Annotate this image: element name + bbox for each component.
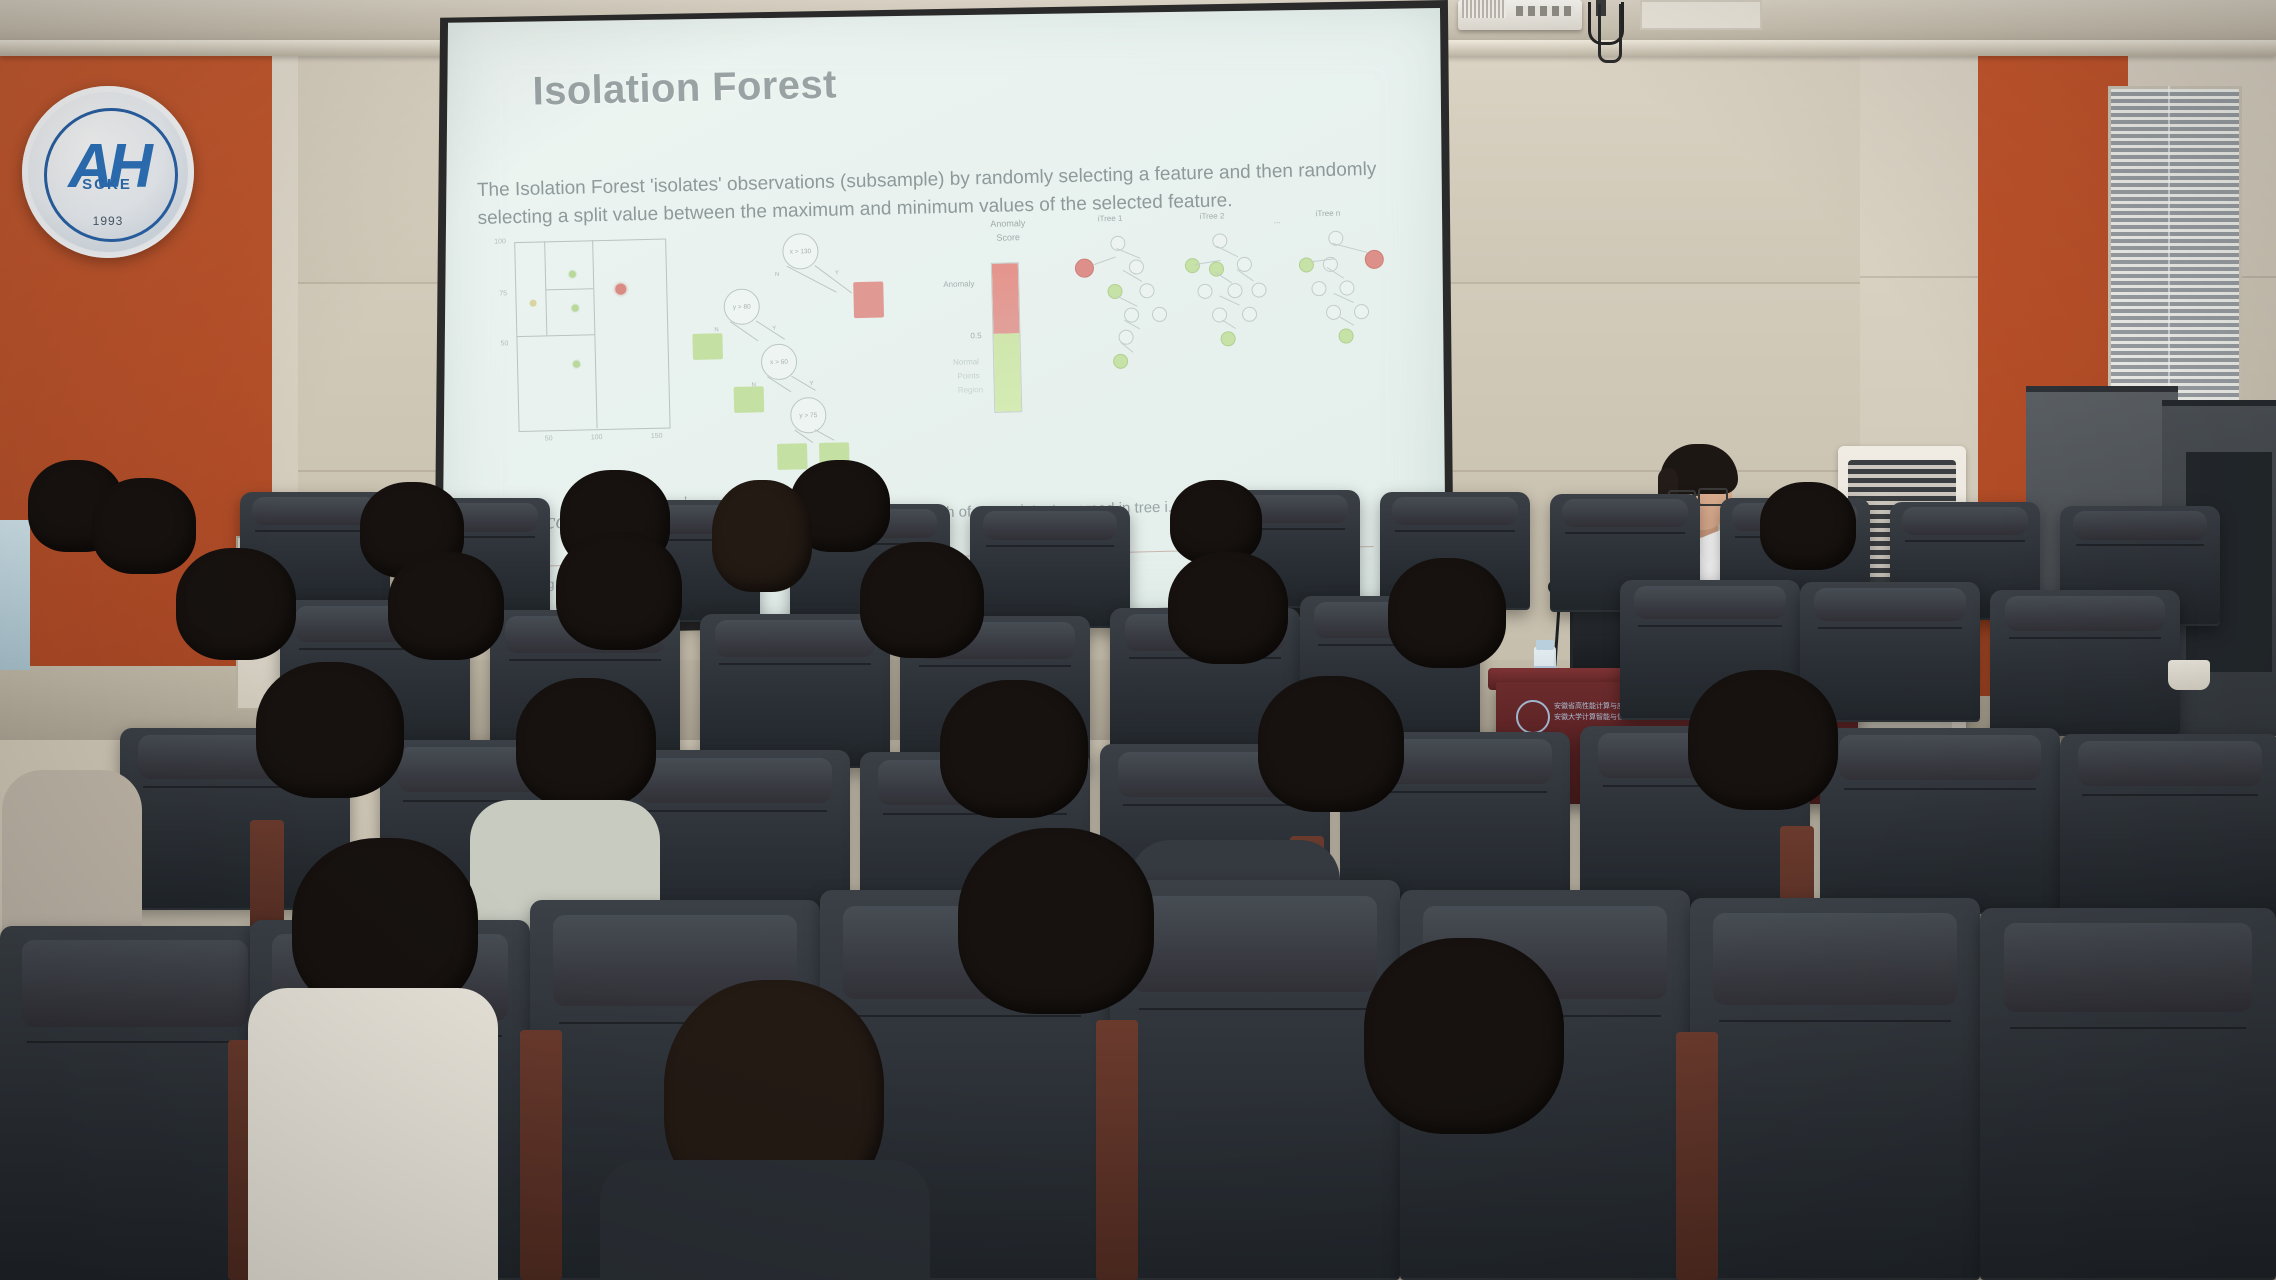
wall-seam-right-2 <box>1860 276 1978 278</box>
audience-head-r2-a <box>256 662 404 798</box>
itreen-node-d <box>1326 305 1341 320</box>
tree-leaf-normal-3 <box>777 443 808 470</box>
tree-edge-4 <box>756 321 785 340</box>
emblem-year: 1993 <box>66 214 150 228</box>
anomaly-region-low <box>993 333 1021 412</box>
itree1-node-d <box>1152 307 1167 322</box>
anomaly-score-legend: Anomaly Score Anomaly 0.5 Normal Points … <box>942 215 1078 468</box>
seat-armrest-r1-4 <box>1676 1032 1718 1280</box>
tree-node-3: x > 60 <box>761 343 798 380</box>
audience-head-r3-c <box>556 532 682 650</box>
itree1-node-a <box>1129 259 1144 274</box>
seat-row3-3[interactable] <box>700 614 890 768</box>
tree-leaf-normal-1 <box>692 333 723 360</box>
itree2-node-green-3 <box>1220 331 1235 346</box>
audience-head-r3-f <box>1388 558 1506 668</box>
emblem-acronym: SCKE <box>64 176 150 193</box>
itree-label-1: iTree 1 <box>1098 214 1123 224</box>
anomaly-region-high <box>992 263 1020 333</box>
partition-scatter-plot: 100 75 50 50 100 150 <box>482 230 677 464</box>
tree-node-4: y > 75 <box>790 397 827 434</box>
audience-head-r4-b <box>92 478 196 574</box>
audience-head-r3-d <box>860 542 984 658</box>
itreen-node-green-2 <box>1338 328 1353 343</box>
itree-label-2: iTree 2 <box>1200 211 1225 221</box>
seat-row1-8[interactable] <box>1980 908 2276 1280</box>
audience-seating <box>0 640 2276 1280</box>
normal-label-2: Points <box>957 371 979 381</box>
audience-head-r3-a <box>176 548 296 660</box>
audience-shoulders-tan <box>2 770 142 950</box>
seat-armrest-r1-2 <box>520 1030 562 1280</box>
itree2-node-c <box>1227 283 1242 298</box>
itreen-node-c <box>1339 280 1354 295</box>
itree1-node-b <box>1139 283 1154 298</box>
itree-label-n: iTree n <box>1316 209 1341 219</box>
itreen-edge-5 <box>1340 317 1354 326</box>
scatter-ytick-0: 100 <box>494 238 506 245</box>
audience-head-r1-c <box>1364 938 1564 1134</box>
tree-leaf-normal-2 <box>734 386 765 413</box>
itree2-edge-6 <box>1222 320 1236 329</box>
itree1-edge-4 <box>1117 296 1137 307</box>
tree-edge-8 <box>814 429 834 441</box>
scatter-ytick-2: 50 <box>500 340 508 347</box>
seat-row2-8[interactable] <box>1820 728 2060 914</box>
itree1-edge-2 <box>1093 257 1116 266</box>
itreen-node-green-1 <box>1299 257 1314 272</box>
seat-row4-5[interactable] <box>970 506 1130 628</box>
audience-head-r2-b <box>516 678 656 808</box>
itree2-node-green-1 <box>1185 258 1200 273</box>
projector-ports <box>1516 6 1574 16</box>
seat-row1-7[interactable] <box>1690 898 1980 1280</box>
anomaly-score-title-2: Score <box>968 232 1048 245</box>
itree1-edge-1 <box>1116 248 1140 259</box>
projector-cable-loop <box>1588 2 1624 45</box>
scatter-ytick-1: 75 <box>499 290 507 297</box>
emblem-monogram: AH <box>58 122 158 210</box>
anomaly-score-bar <box>991 262 1023 413</box>
anomaly-score-title-1: Anomaly <box>968 218 1048 231</box>
tree-edge-label-y3: Y <box>810 381 814 387</box>
seat-row2-9[interactable] <box>2060 734 2276 920</box>
seat-row3-9[interactable] <box>1990 590 2180 736</box>
audience-shoulders-r1-dark <box>600 1160 930 1280</box>
isolation-forest-diagram: 100 75 50 50 100 150 <box>472 207 1418 499</box>
tree-edge-label-y2: Y <box>772 326 776 332</box>
tree-node-root: x > 130 <box>782 233 819 270</box>
itree2-edge-3 <box>1215 272 1232 284</box>
itree-label-ellipsis: ... <box>1274 216 1281 225</box>
audience-head-r2-d <box>1258 676 1404 812</box>
lecture-hall-scene: AH SCKE 1993 Isolation Forest The Isolat… <box>0 0 2276 1280</box>
itree2-node-d <box>1251 282 1266 297</box>
itree2-edge-1 <box>1216 246 1238 258</box>
audience-head-r1-b <box>958 828 1154 1014</box>
scatter-xtick-2: 150 <box>651 433 663 440</box>
decision-tree-diagram: x > 130 y > 80 x > 60 y > 75 N Y N Y <box>678 218 954 474</box>
itree1-node-anomaly <box>1075 258 1094 277</box>
itree-ensemble: iTree 1 iTree 2 ... iTree n <box>1070 207 1416 465</box>
scatter-xtick-0: 50 <box>545 435 553 442</box>
wall-access-panel <box>1640 0 1762 30</box>
itreen-node-anomaly <box>1365 250 1384 269</box>
slide-title: Isolation Forest <box>532 62 837 114</box>
itreen-node-e <box>1354 304 1369 319</box>
itreen-edge-1 <box>1332 243 1367 253</box>
anomaly-threshold-label: 0.5 <box>970 331 981 340</box>
tree-edge-label-n1: N <box>775 272 779 278</box>
tree-leaf-anomaly <box>853 281 884 318</box>
itree2-node-green-2 <box>1209 261 1224 276</box>
itree2-node-f <box>1242 307 1257 322</box>
audience-head-r4-ponytail <box>712 480 812 592</box>
tree-edge-label-y1: Y <box>835 270 839 276</box>
seat-armrest-r1-3 <box>1096 1020 1138 1280</box>
projector-vent <box>1462 0 1506 18</box>
scatter-xtick-1: 100 <box>591 434 603 441</box>
audience-head-r2-e <box>1688 670 1838 810</box>
audience-shoulders-white <box>248 988 498 1280</box>
anomaly-label: Anomaly <box>943 279 974 289</box>
tree-node-2: y > 80 <box>723 288 760 325</box>
tree-edge-1 <box>787 266 837 293</box>
normal-label-3: Region <box>958 385 984 395</box>
audience-head-r3-b <box>388 552 504 660</box>
itreen-node-b <box>1311 281 1326 296</box>
itree1-node-green-2 <box>1113 354 1128 369</box>
normal-label-1: Normal <box>953 357 979 367</box>
itree2-node-b <box>1197 284 1212 299</box>
paper-cup[interactable] <box>2168 660 2210 690</box>
audience-head-r3-e <box>1168 552 1288 664</box>
audience-head-r5-b <box>1760 482 1856 570</box>
audience-head-r2-c <box>940 680 1088 818</box>
